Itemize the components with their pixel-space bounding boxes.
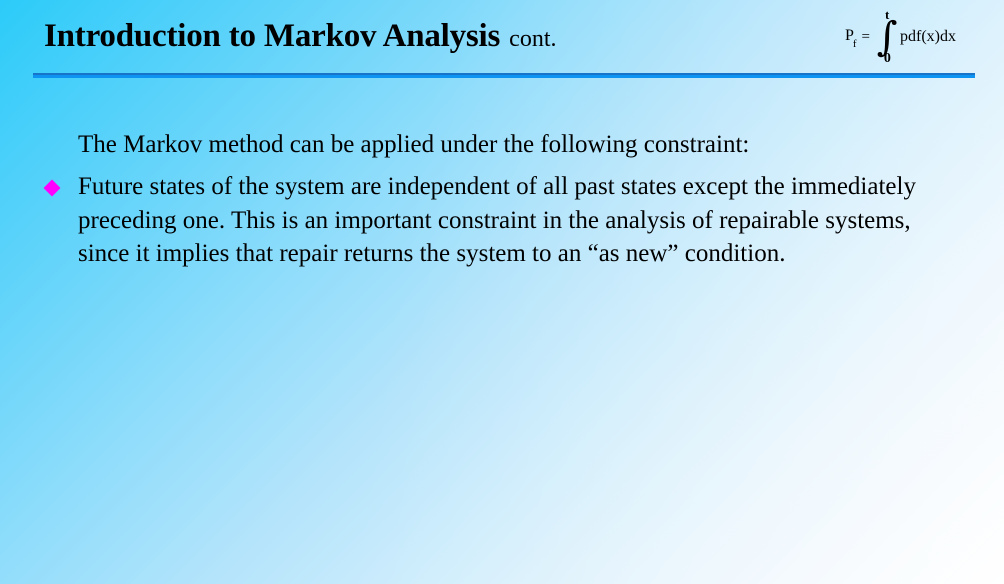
slide-canvas: Introduction to Markov Analysiscont. Pf … — [0, 0, 1004, 584]
list-item: Future states of the system are independ… — [0, 170, 1004, 271]
list-item-text: Future states of the system are independ… — [78, 173, 916, 267]
formula-integrand: pdf(x)dx — [900, 28, 956, 46]
page-title-continuation: cont. — [509, 26, 556, 52]
integral-icon: t ∫ 0 — [879, 8, 895, 66]
page-title: Introduction to Markov Analysiscont. — [44, 20, 557, 53]
title-divider-rule — [33, 73, 975, 78]
intro-paragraph: The Markov method can be applied under t… — [0, 128, 1004, 162]
slide-body: The Markov method can be applied under t… — [0, 128, 1004, 271]
integral-lower-limit: 0 — [884, 52, 891, 66]
diamond-bullet-icon — [44, 180, 61, 197]
formula-equals-sign: = — [862, 29, 870, 46]
slide-title-area: Introduction to Markov Analysiscont. Pf … — [0, 0, 1004, 80]
probability-failure-formula: Pf = t ∫ 0 pdf(x)dx — [845, 8, 956, 66]
page-title-main: Introduction to Markov Analysis — [44, 18, 500, 54]
formula-lhs: Pf — [845, 27, 858, 47]
formula-lhs-subscript: f — [853, 38, 857, 50]
